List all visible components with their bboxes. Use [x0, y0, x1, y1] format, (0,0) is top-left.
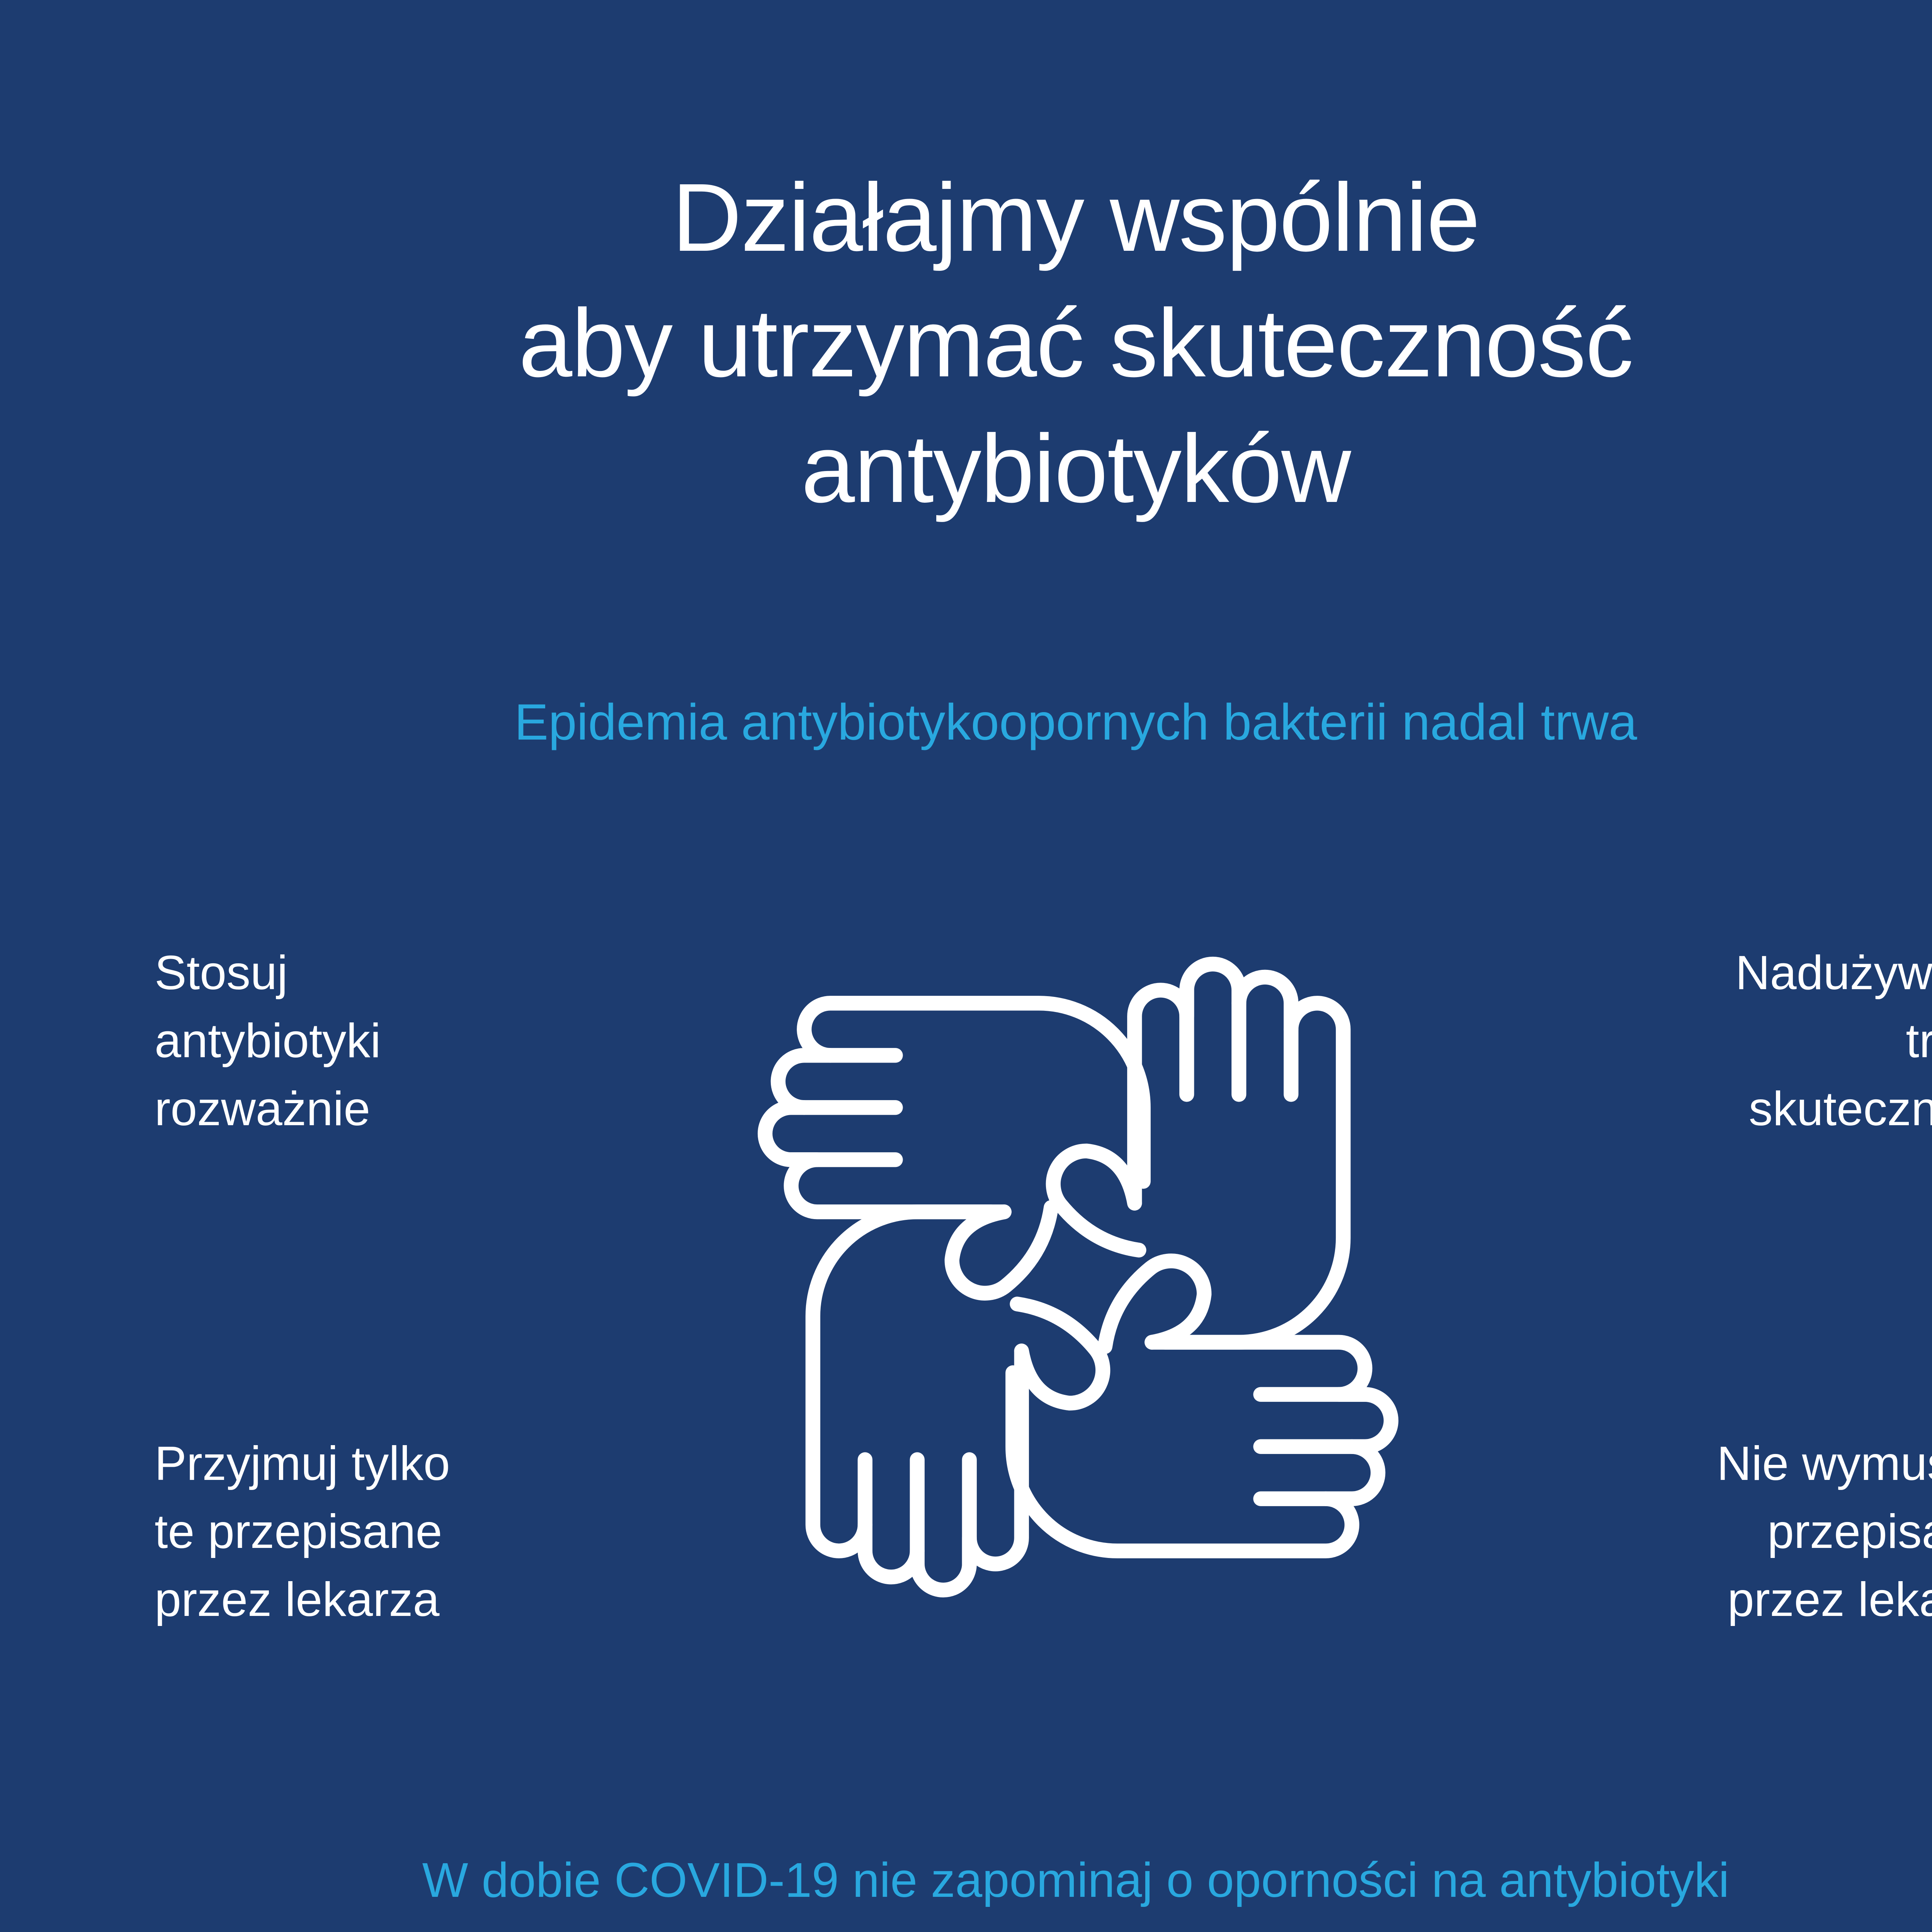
tip-top-right: Nadużywane tracą skuteczność — [1529, 939, 1932, 1143]
tip-bottom-left: Przyjmuj tylko te przepisane przez lekar… — [155, 1430, 676, 1634]
covid-reminder-line: W dobie COVID-19 nie zapominaj o opornoś… — [0, 1851, 1932, 1909]
tip-bottom-right: Nie wymuszaj przepisania przez lekarza — [1491, 1430, 1932, 1634]
poster: Działajmy wspólnie aby utrzymać skuteczn… — [0, 0, 1932, 1932]
page-title: Działajmy wspólnie aby utrzymać skuteczn… — [0, 155, 1932, 531]
tip-top-left: Stosuj antybiotyki rozważnie — [155, 939, 638, 1143]
four-interlocking-hands-icon — [634, 842, 1522, 1712]
page-subtitle: Epidemia antybiotykoopornych bakterii na… — [0, 692, 1932, 753]
